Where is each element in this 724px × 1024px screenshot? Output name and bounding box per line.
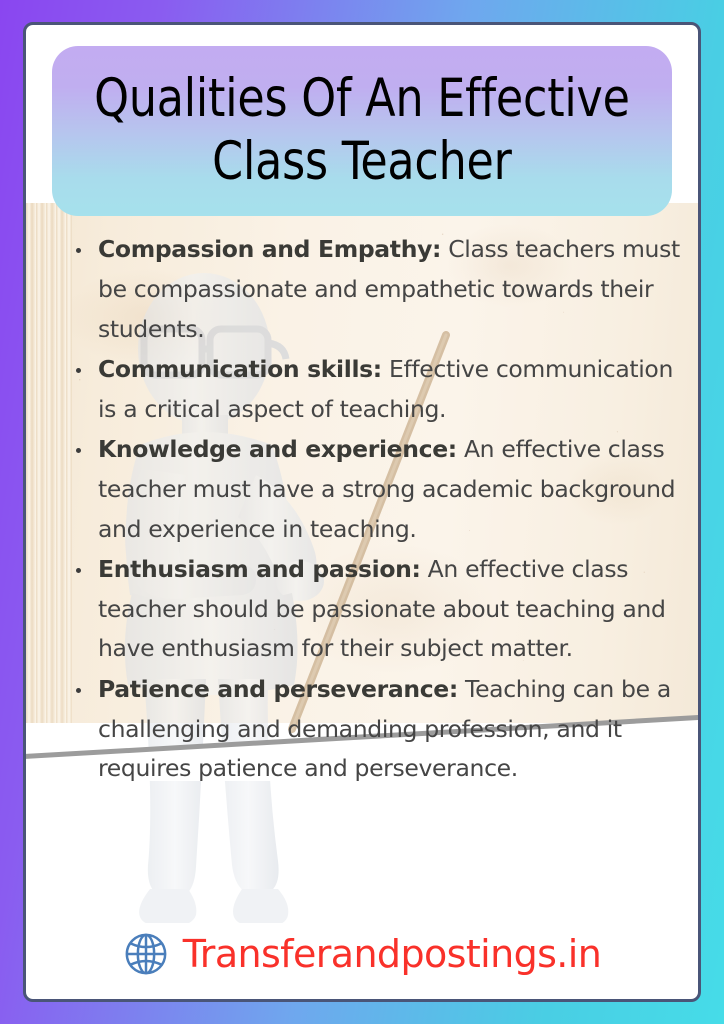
poster-root: Qualities Of An Effective Class Teacher … <box>0 0 724 1024</box>
list-item-term: Compassion and Empathy: <box>98 235 441 263</box>
list-item: Communication skills: Effective communic… <box>70 350 680 430</box>
page-title: Qualities Of An Effective Class Teacher <box>81 68 643 193</box>
list-item-term: Communication skills: <box>98 355 382 383</box>
list-item: Enthusiasm and passion: An effective cla… <box>70 550 680 669</box>
qualities-list: Compassion and Empathy: Class teachers m… <box>70 230 680 790</box>
list-item-term: Patience and perseverance: <box>98 675 458 703</box>
list-item: Patience and perseverance: Teaching can … <box>70 670 680 789</box>
list-item-term: Knowledge and experience: <box>98 435 457 463</box>
page-title-line2: Class Teacher <box>212 131 512 192</box>
list-item-term: Enthusiasm and passion: <box>98 555 421 583</box>
title-banner: Qualities Of An Effective Class Teacher <box>52 46 672 216</box>
list-item: Compassion and Empathy: Class teachers m… <box>70 230 680 349</box>
poster-card: Qualities Of An Effective Class Teacher … <box>23 22 701 1002</box>
globe-icon <box>123 931 169 977</box>
footer: Transferandpostings.in <box>26 931 698 977</box>
site-url-text[interactable]: Transferandpostings.in <box>183 932 601 976</box>
page-title-line1: Qualities Of An Effective <box>94 68 630 129</box>
list-item: Knowledge and experience: An effective c… <box>70 430 680 549</box>
book-page-edge <box>26 203 72 723</box>
